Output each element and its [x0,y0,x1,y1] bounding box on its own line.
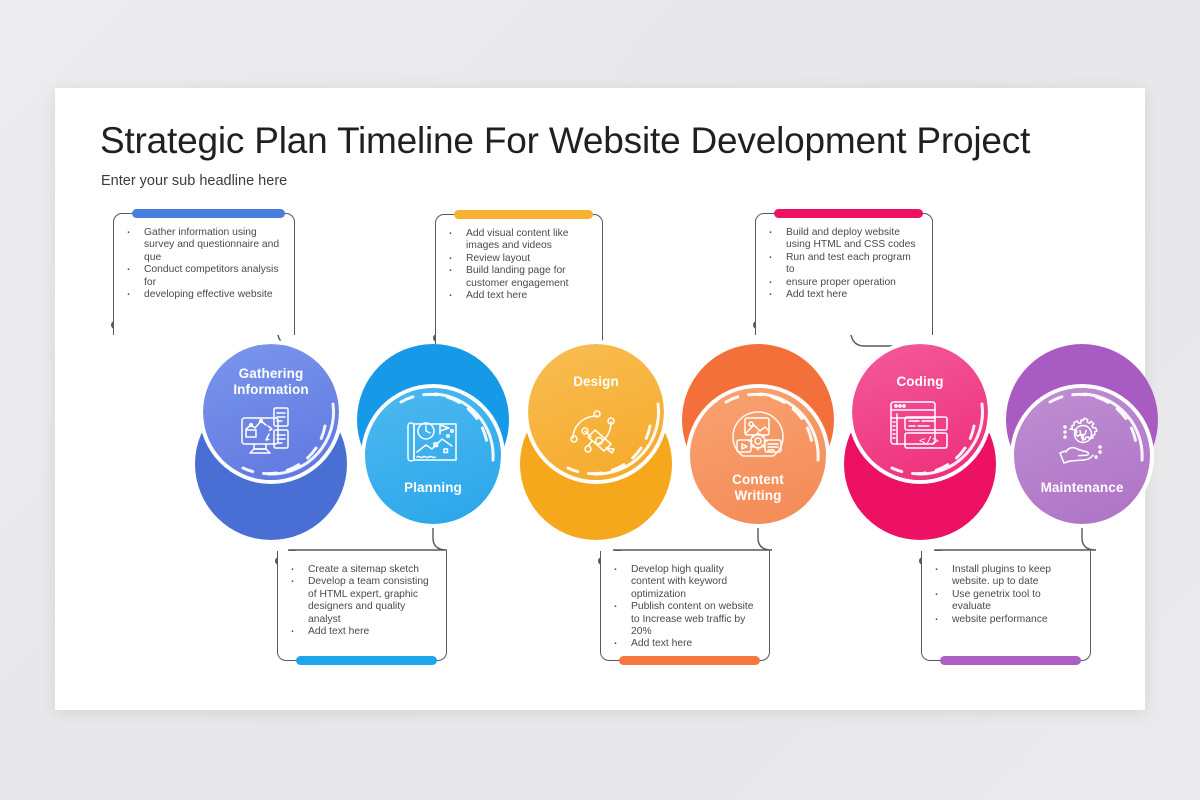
list-item: Review layout [466,253,592,265]
node-label-design: Design [528,374,664,390]
callout-planning-list: Create a sitemap sketchDevelop a team co… [308,564,436,638]
svg-text:</>: </> [919,434,939,447]
node-label-coding: Coding [852,374,988,390]
pen-tool-icon [565,400,627,458]
list-item: Develop high quality content with keywor… [631,564,759,601]
list-item: Create a sitemap sketch [308,564,436,576]
timeline-node-content[interactable]: ContentWriting [682,344,834,544]
timeline-node-maintenance[interactable]: Maintenance [1006,344,1158,544]
node-disc-maintenance: Maintenance [1014,388,1150,524]
node-disc-content: ContentWriting [690,388,826,524]
callout-maintenance-list: Install plugins to keep website. up to d… [952,564,1080,626]
list-item: Build and deploy website using HTML and … [786,227,922,252]
list-item: Publish content on website to Increase w… [631,601,759,638]
callout-design[interactable]: Add visual content like images and video… [435,214,603,348]
timeline-node-gathering[interactable]: GatheringInformation [195,344,347,544]
node-disc-planning: Planning [365,388,501,524]
callout-planning[interactable]: Create a sitemap sketchDevelop a team co… [277,551,447,661]
callout-gathering-list: Gather information using survey and ques… [144,227,284,301]
list-item: ensure proper operation [786,277,922,289]
list-item: website performance [952,614,1080,626]
callout-coding-accent-bar [774,209,923,218]
code-window-icon: </> [889,400,951,454]
monitor-chart-documents-icon [240,406,302,464]
callout-coding-list: Build and deploy website using HTML and … [786,227,922,301]
list-item: Build landing page for customer engageme… [466,265,592,290]
gear-wrench-hand-icon [1052,414,1112,470]
node-disc-coding: Coding </> [852,344,988,480]
callout-maintenance-accent-bar [940,656,1081,665]
list-item: developing effective website [144,289,284,301]
list-item: Add text here [308,626,436,638]
node-label-planning: Planning [365,480,501,496]
timeline-node-planning[interactable]: Planning [357,344,509,544]
timeline-node-design[interactable]: Design [520,344,672,544]
callout-gathering[interactable]: Gather information using survey and ques… [113,213,295,335]
node-disc-design: Design [528,344,664,480]
callout-design-list: Add visual content like images and video… [466,228,592,302]
list-item: Develop a team consisting of HTML expert… [308,576,436,626]
media-gear-icon [729,410,787,464]
map-clock-flag-icon [404,414,462,466]
callout-content-accent-bar [619,656,760,665]
callout-planning-accent-bar [296,656,437,665]
list-item: Add text here [786,289,922,301]
callout-design-accent-bar [454,210,593,219]
timeline-flow: Gather information using survey and ques… [55,88,1145,710]
callout-content-list: Develop high quality content with keywor… [631,564,759,651]
list-item: Gather information using survey and ques… [144,227,284,264]
list-item: Run and test each program to [786,252,922,277]
list-item: Add visual content like images and video… [466,228,592,253]
node-label-maintenance: Maintenance [1014,480,1150,496]
callout-gathering-accent-bar [132,209,285,218]
callout-maintenance[interactable]: Install plugins to keep website. up to d… [921,551,1091,661]
timeline-node-coding[interactable]: Coding </> [844,344,996,544]
list-item: Conduct competitors analysis for [144,264,284,289]
callout-content[interactable]: Develop high quality content with keywor… [600,551,770,661]
list-item: Use genetrix tool to evaluate [952,589,1080,614]
slide-card: Strategic Plan Timeline For Website Deve… [55,88,1145,710]
list-item: Add text here [631,638,759,650]
list-item: Add text here [466,290,592,302]
callout-coding[interactable]: Build and deploy website using HTML and … [755,213,933,335]
node-label-content: ContentWriting [690,472,826,503]
node-label-gathering: GatheringInformation [203,366,339,397]
list-item: Install plugins to keep website. up to d… [952,564,1080,589]
node-disc-gathering: GatheringInformation [203,344,339,480]
